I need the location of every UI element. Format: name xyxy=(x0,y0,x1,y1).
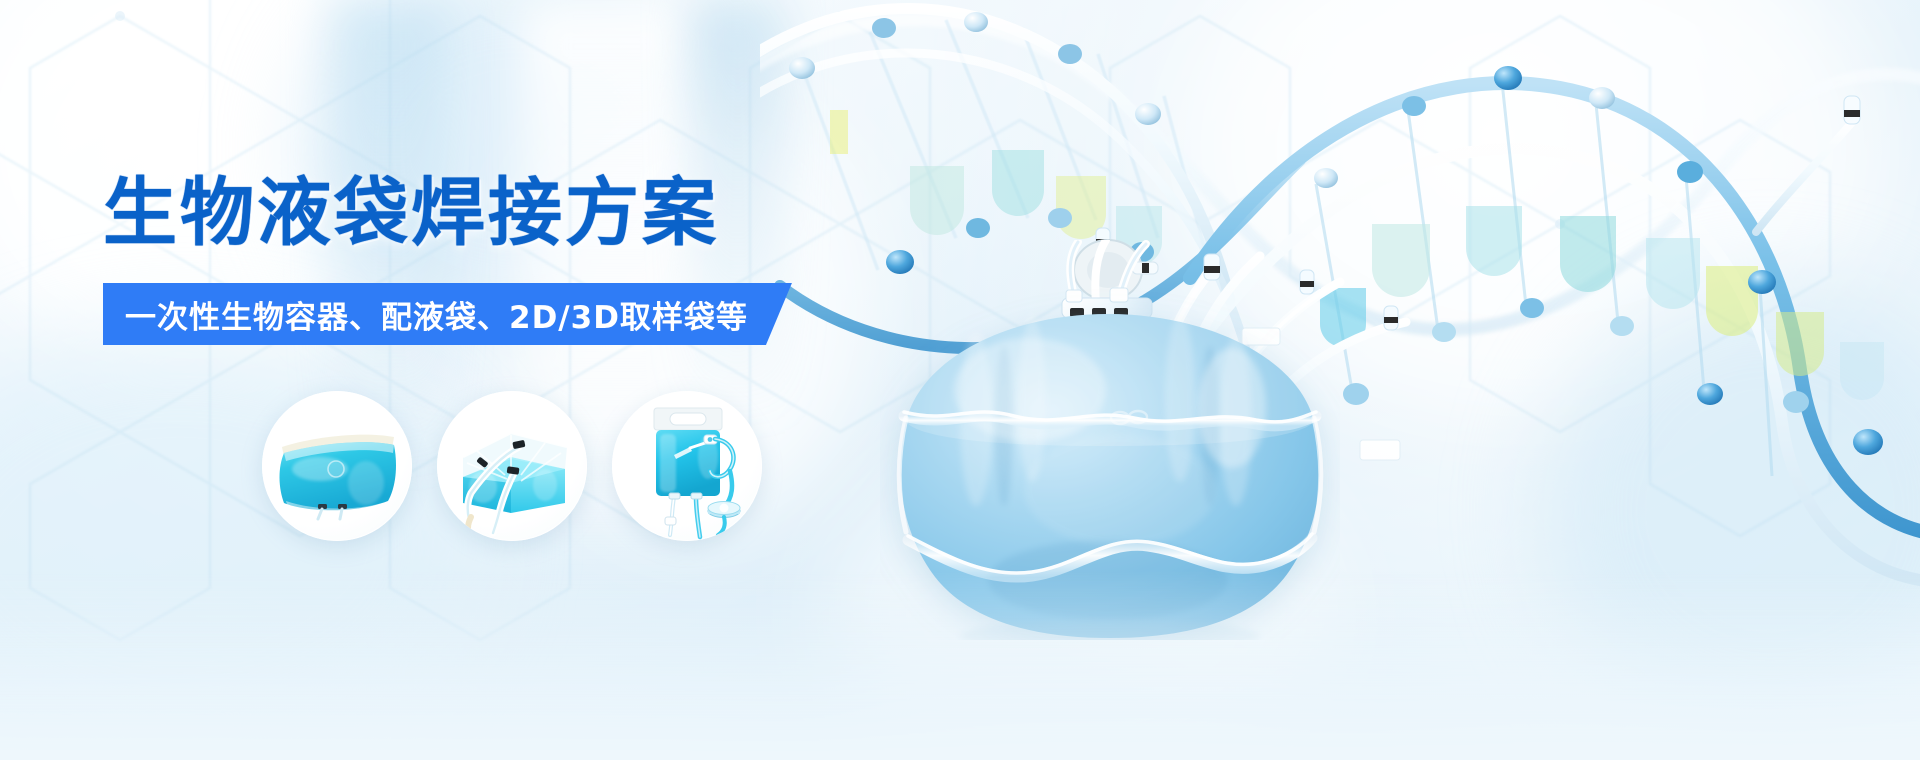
subtitle-text: 一次性生物容器、配液袋、2D/3D取样袋等 xyxy=(125,292,748,337)
cube-bag-icon xyxy=(437,391,587,541)
bioreactor-bag-icon xyxy=(880,240,1340,640)
background-blob xyxy=(1180,0,1880,410)
product-thumbnail-1[interactable] xyxy=(262,391,412,541)
product-thumbnail-3[interactable] xyxy=(612,391,762,541)
background-blob xyxy=(1540,280,1920,740)
dna-helix-icon xyxy=(760,0,1920,690)
hero-banner: 生物液袋焊接方案 一次性生物容器、配液袋、2D/3D取样袋等 xyxy=(0,0,1920,760)
hexagon-lattice-icon xyxy=(0,0,1920,760)
bottom-fade xyxy=(0,570,1920,760)
product-thumbnail-2[interactable] xyxy=(437,391,587,541)
sampling-bag-icon xyxy=(612,391,762,541)
background-blob xyxy=(820,430,1340,760)
subtitle-ribbon: 一次性生物容器、配液袋、2D/3D取样袋等 xyxy=(103,283,792,345)
page-title: 生物液袋焊接方案 xyxy=(103,176,719,250)
pillow-bag-icon xyxy=(262,391,412,541)
background-blob xyxy=(0,330,480,760)
